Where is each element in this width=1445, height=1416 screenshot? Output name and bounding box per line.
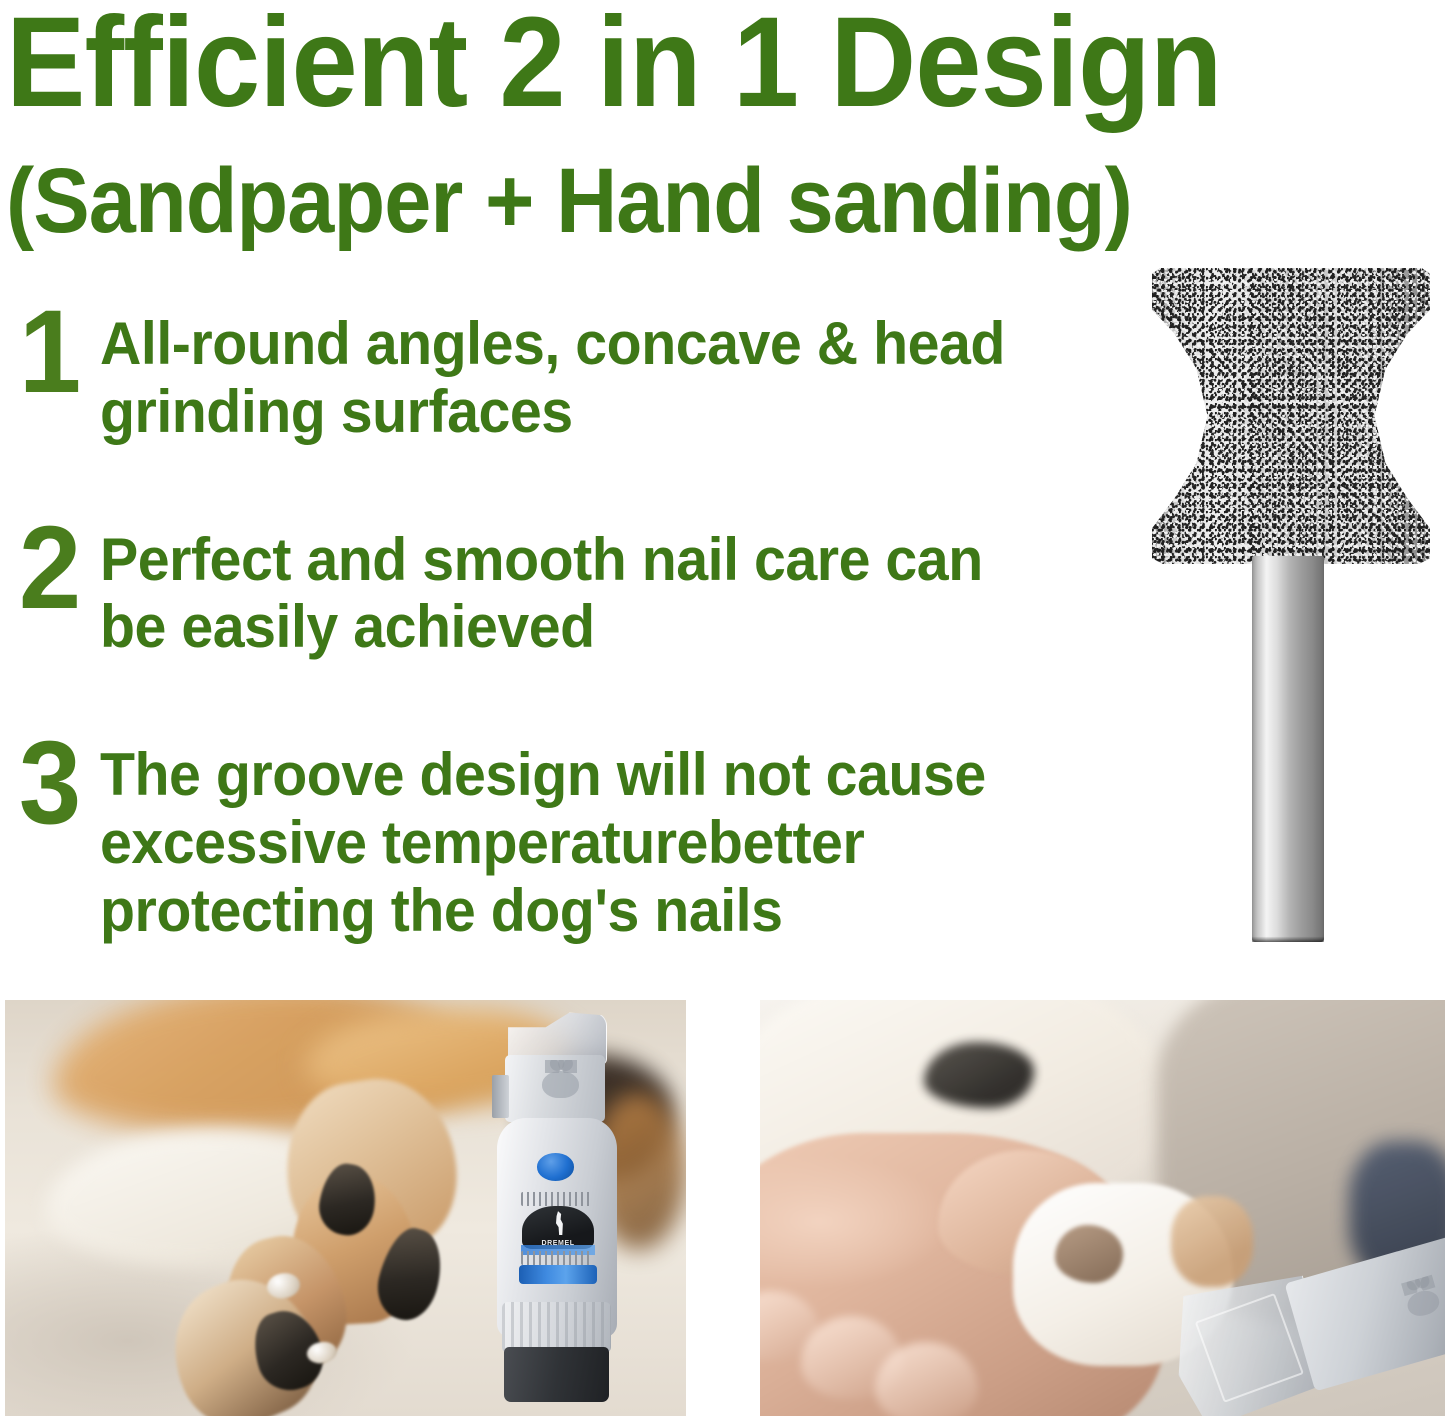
paw-icon bbox=[1404, 1287, 1442, 1320]
page-subtitle: (Sandpaper + Hand sanding) bbox=[6, 152, 1132, 251]
grinder-vent bbox=[521, 1251, 593, 1265]
photo-left-background: DREMEL bbox=[5, 1000, 686, 1416]
grinder-grip bbox=[502, 1302, 611, 1353]
photo-dog-paws-with-grinder: DREMEL bbox=[5, 1000, 686, 1416]
dog-dark-marking bbox=[924, 1042, 1034, 1109]
feature-number-2: 2 bbox=[3, 512, 98, 623]
feature-number-1: 1 bbox=[3, 296, 98, 407]
feature-text-3: The groove design will not cause excessi… bbox=[100, 727, 1055, 944]
dog-paw-pad bbox=[1055, 1225, 1124, 1283]
page-title: Efficient 2 in 1 Design bbox=[6, 0, 1336, 132]
grinder-speed-slider bbox=[519, 1265, 596, 1285]
grinder-vent bbox=[521, 1192, 593, 1206]
grinder-base-cap bbox=[504, 1347, 610, 1402]
grinding-bit-shaft bbox=[1252, 556, 1324, 942]
grinder-power-button bbox=[537, 1153, 574, 1180]
feature-text-1: All-round angles, concave & head grindin… bbox=[100, 296, 1055, 446]
feature-item-3: 3 The groove design will not cause exces… bbox=[0, 727, 1100, 944]
feature-item-1: 1 All-round angles, concave & head grind… bbox=[0, 296, 1100, 446]
feature-number-3: 3 bbox=[3, 727, 98, 838]
grinding-bit-illustration bbox=[1148, 268, 1438, 958]
grinding-bit-head bbox=[1152, 268, 1430, 564]
grinder-clip bbox=[492, 1075, 509, 1118]
nail-grinder-tool: DREMEL bbox=[485, 1012, 628, 1403]
dog-silhouette-icon bbox=[552, 1211, 566, 1235]
feature-item-2: 2 Perfect and smooth nail care can be ea… bbox=[0, 512, 1100, 662]
feature-list: 1 All-round angles, concave & head grind… bbox=[0, 296, 1100, 983]
grinder-brand-badge: DREMEL bbox=[522, 1206, 594, 1249]
paw-icon bbox=[542, 1071, 579, 1098]
photo-right-background bbox=[760, 1000, 1445, 1416]
grinder-body bbox=[1284, 1234, 1445, 1391]
photo-strip: DREMEL bbox=[0, 1000, 1445, 1416]
feature-text-2: Perfect and smooth nail care can be easi… bbox=[100, 512, 1055, 662]
photo-hand-grinding-dog-nail bbox=[760, 1000, 1445, 1416]
infographic-page: Efficient 2 in 1 Design (Sandpaper + Han… bbox=[0, 0, 1445, 1416]
